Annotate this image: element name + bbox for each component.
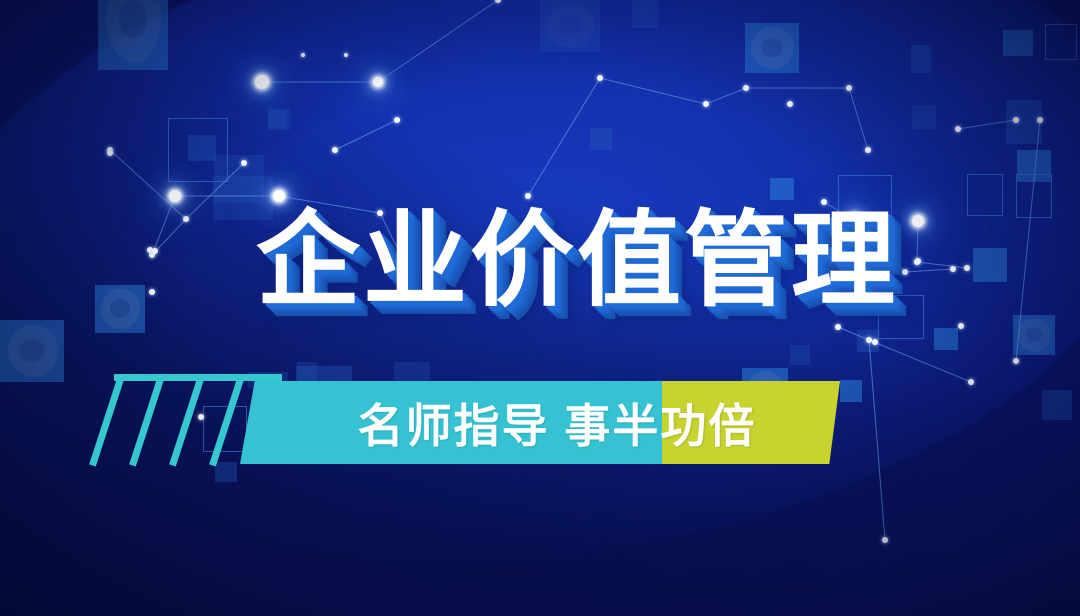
subtitle-text: 名师指导 事半功倍	[240, 381, 840, 464]
page-title: 企业价值管理	[256, 207, 898, 316]
subtitle-banner: 名师指导 事半功倍	[240, 381, 840, 464]
stripe-slash	[169, 375, 205, 467]
stripe-slash	[129, 375, 165, 467]
poster-canvas: 企业价值管理 名师指导 事半功倍	[0, 0, 1080, 616]
